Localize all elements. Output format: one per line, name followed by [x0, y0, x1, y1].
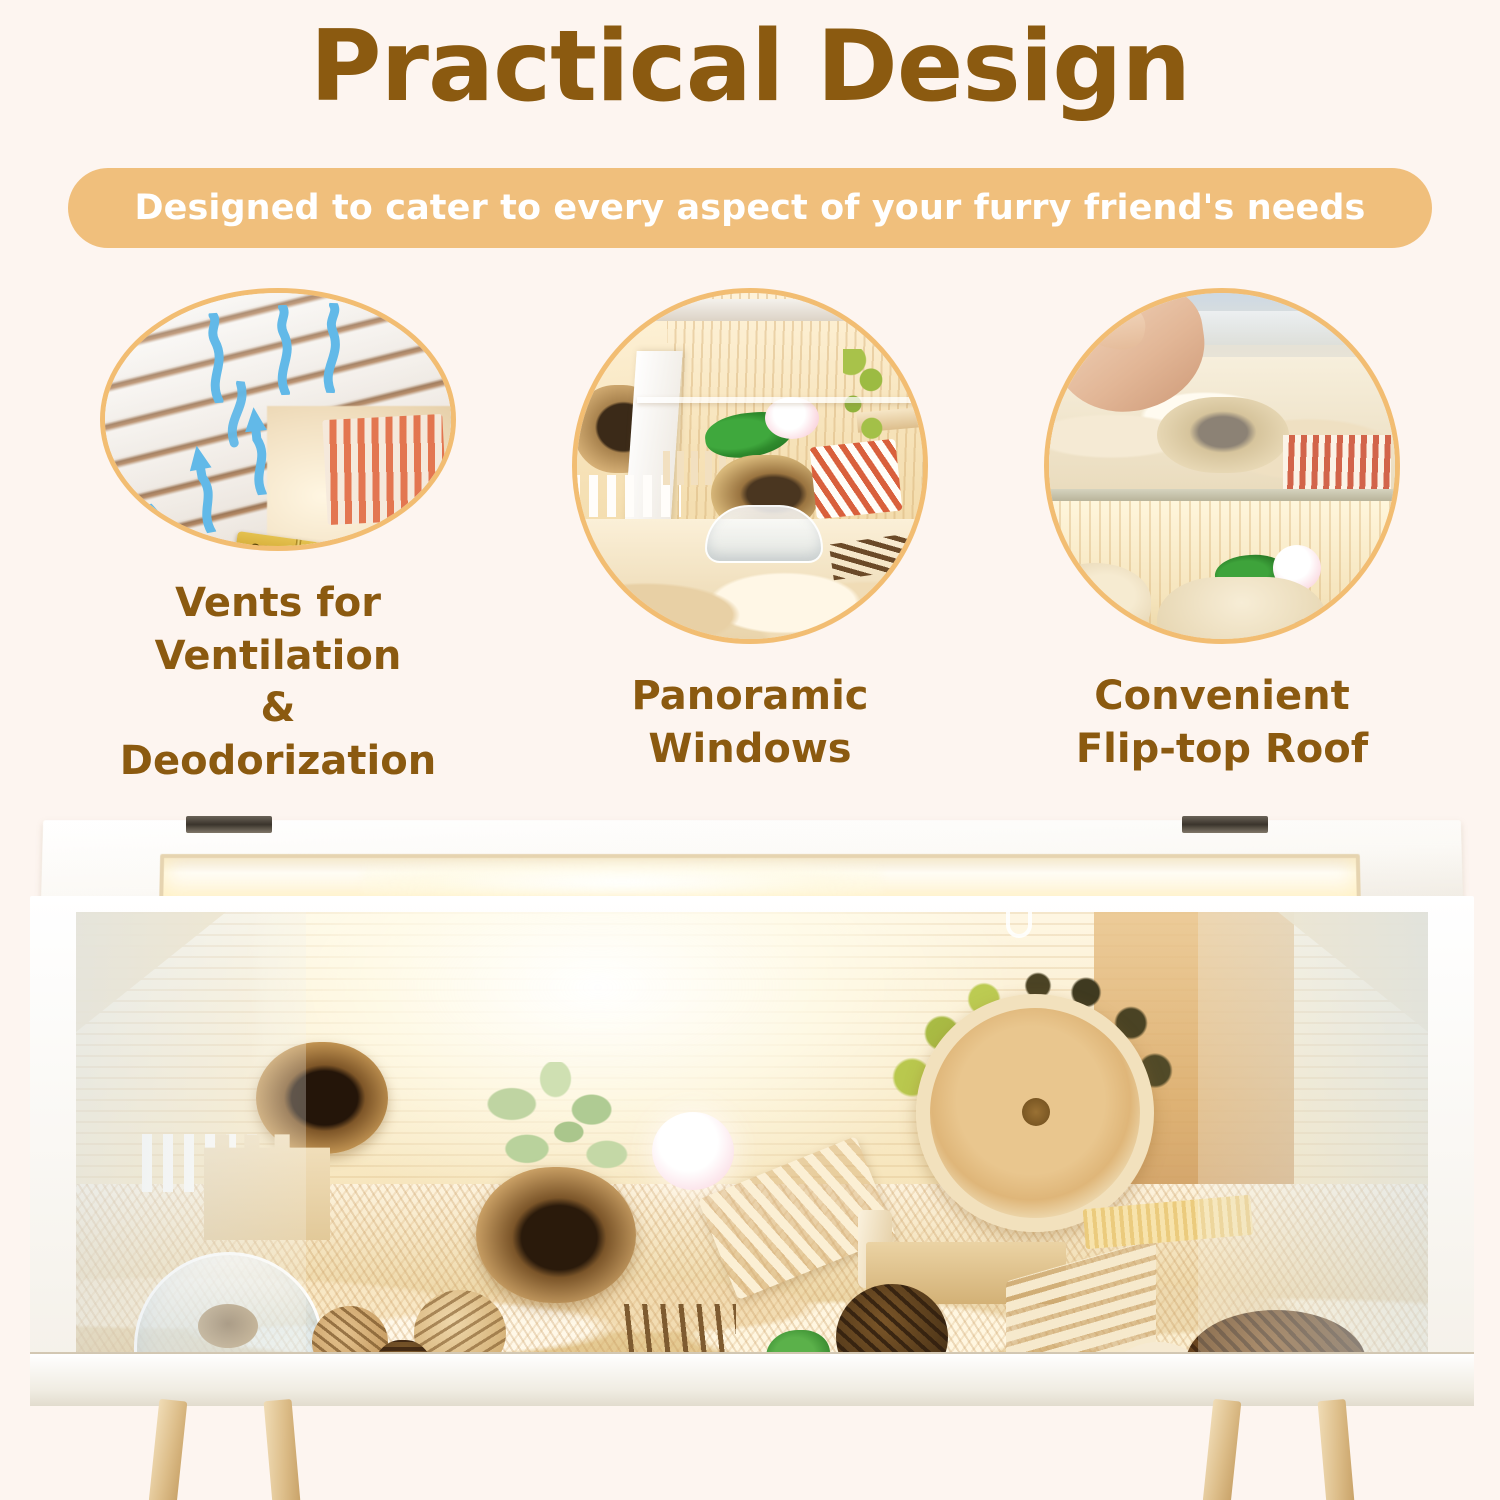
feature-windows[interactable]: Panoramic Windows — [570, 288, 930, 788]
white-cotton-flower — [652, 1112, 734, 1190]
feature-vents[interactable]: Vents for Ventilation & Deodorization — [98, 288, 458, 788]
airflow-arrow-icon — [317, 303, 346, 394]
cage-body — [30, 896, 1474, 1406]
nest-hut — [1157, 397, 1289, 473]
interior-light-glow — [362, 862, 883, 896]
wicker-tunnel-hut — [476, 1167, 636, 1303]
wooden-ladder — [809, 439, 902, 520]
feature-image-windows — [572, 288, 928, 644]
page-title: Practical Design — [0, 16, 1500, 119]
cage-leg — [1318, 1399, 1355, 1500]
acrylic-side-panel-left — [76, 912, 306, 1354]
wheel-hub — [1022, 1098, 1050, 1126]
cage-bottom-rail — [30, 1352, 1474, 1406]
feature-row: Vents for Ventilation & Deodorization — [0, 288, 1500, 788]
subtitle-text: Designed to cater to every aspect of you… — [135, 188, 1366, 228]
pink-flower — [765, 397, 819, 439]
feature-label-roof: Convenient Flip-top Roof — [1076, 670, 1368, 776]
roof-hinge-right-icon — [1182, 816, 1268, 833]
flip-top-lid[interactable] — [41, 820, 1463, 908]
acrylic-window-edge — [637, 397, 923, 403]
cage-leg — [264, 1399, 301, 1500]
hinge-pin — [288, 539, 302, 546]
airflow-arrow-icon — [269, 305, 298, 396]
feature-image-roof — [1044, 288, 1400, 644]
striped-accessory — [1283, 435, 1391, 495]
roof-hinge-left-icon — [186, 816, 272, 833]
chew-sticks-bundle — [616, 1304, 736, 1354]
cage-shelf-divider — [1049, 489, 1395, 501]
striped-accessory — [322, 414, 447, 525]
cage-top-rail — [637, 299, 923, 321]
cage-leg — [1203, 1399, 1242, 1500]
product-photo — [0, 800, 1500, 1500]
cage-leg — [149, 1399, 188, 1500]
cage-interior — [76, 912, 1428, 1354]
feature-image-vents — [100, 288, 456, 551]
wicker-hut — [1049, 563, 1151, 639]
led-hook-icon — [1006, 912, 1032, 938]
finger — [1084, 296, 1149, 353]
subtitle-banner: Designed to cater to every aspect of you… — [68, 168, 1432, 248]
feature-roof[interactable]: Convenient Flip-top Roof — [1042, 288, 1402, 788]
glass-igloo — [705, 505, 823, 563]
acrylic-side-panel-right — [1198, 912, 1428, 1354]
feature-label-windows: Panoramic Windows — [631, 670, 868, 776]
bedding-mound — [1157, 577, 1327, 639]
feature-label-vents: Vents for Ventilation & Deodorization — [98, 577, 458, 788]
